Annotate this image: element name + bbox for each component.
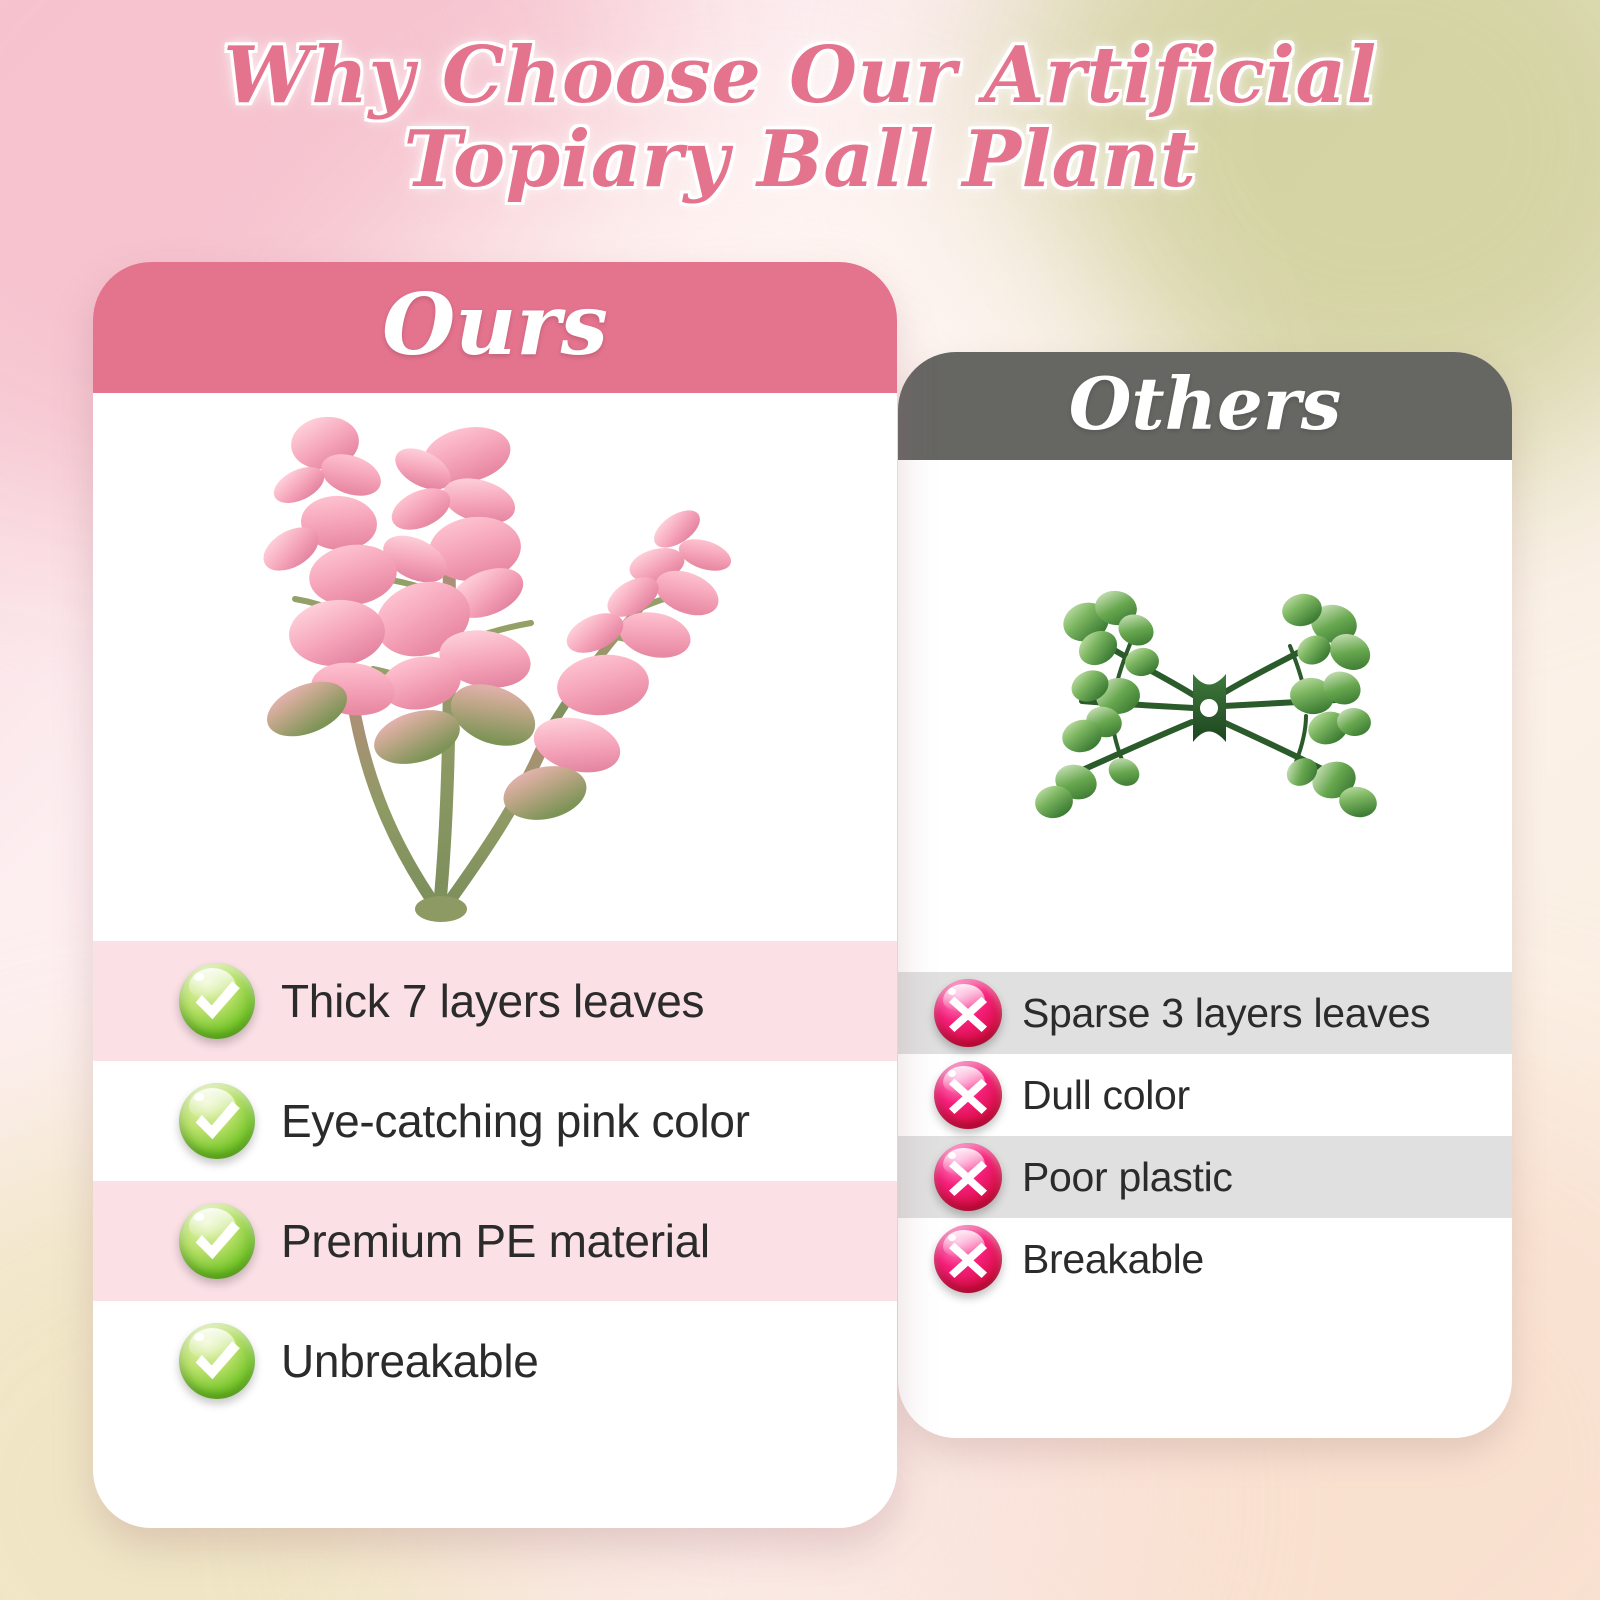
page-title: Why Choose Our Artificial Topiary Ball P… bbox=[0, 34, 1600, 202]
cross-icon bbox=[934, 1225, 1002, 1293]
cross-icon bbox=[934, 1143, 1002, 1211]
others-feature-row-4: Breakable bbox=[898, 1218, 1512, 1300]
page-title-line-1: Why Choose Our Artificial bbox=[0, 34, 1600, 118]
ours-card-header: Ours bbox=[93, 262, 897, 393]
others-feature-label: Dull color bbox=[1022, 1072, 1190, 1119]
others-feature-row-3: Poor plastic bbox=[898, 1136, 1512, 1218]
others-feature-row-1: Sparse 3 layers leaves bbox=[898, 972, 1512, 1054]
ours-feature-row-1: Thick 7 layers leaves bbox=[93, 941, 897, 1061]
others-feature-list: Sparse 3 layers leaves Dull color Poor p… bbox=[898, 972, 1512, 1300]
page-title-line-2: Topiary Ball Plant bbox=[0, 118, 1600, 202]
ours-feature-label: Unbreakable bbox=[281, 1334, 539, 1388]
ours-feature-row-2: Eye-catching pink color bbox=[93, 1061, 897, 1181]
others-header-label: Others bbox=[1069, 368, 1342, 444]
others-feature-row-2: Dull color bbox=[898, 1054, 1512, 1136]
ours-header-label: Ours bbox=[382, 283, 608, 373]
ours-feature-row-4: Unbreakable bbox=[93, 1301, 897, 1421]
others-product-image bbox=[898, 460, 1512, 972]
ours-feature-row-3: Premium PE material bbox=[93, 1181, 897, 1301]
ours-feature-label: Premium PE material bbox=[281, 1214, 710, 1268]
ours-comparison-card: Ours bbox=[93, 262, 897, 1528]
others-feature-label: Breakable bbox=[1022, 1236, 1204, 1283]
others-card-header: Others bbox=[898, 352, 1512, 460]
cross-icon bbox=[934, 1061, 1002, 1129]
others-feature-label: Poor plastic bbox=[1022, 1154, 1233, 1201]
others-feature-label: Sparse 3 layers leaves bbox=[1022, 990, 1430, 1037]
ours-feature-list: Thick 7 layers leaves Eye-catching pink … bbox=[93, 941, 897, 1421]
ours-product-image bbox=[93, 393, 897, 941]
ours-feature-label: Thick 7 layers leaves bbox=[281, 974, 704, 1028]
cross-icon bbox=[934, 979, 1002, 1047]
check-icon bbox=[179, 1323, 255, 1399]
check-icon bbox=[179, 1083, 255, 1159]
others-comparison-card: Others bbox=[898, 352, 1512, 1438]
sparse-green-plant-illustration bbox=[990, 546, 1420, 886]
pink-plant-illustration bbox=[235, 397, 755, 937]
check-icon bbox=[179, 1203, 255, 1279]
check-icon bbox=[179, 963, 255, 1039]
ours-feature-label: Eye-catching pink color bbox=[281, 1094, 750, 1148]
